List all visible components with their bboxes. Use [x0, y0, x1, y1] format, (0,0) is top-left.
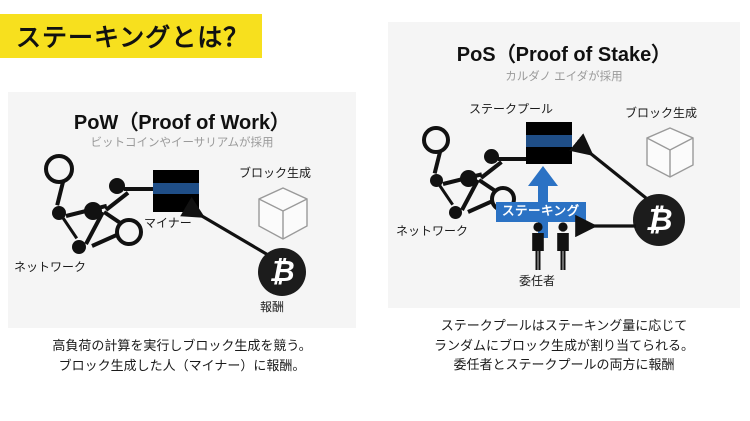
pos-caption-line-3: 委任者とステークプールの両方に報酬	[388, 355, 740, 375]
slide-title-banner: ステーキングとは？	[0, 14, 262, 58]
graph-edge	[105, 191, 130, 211]
pos-caption: ステークプールはステーキング量に応じて ランダムにブロック生成が割り当てられる。…	[388, 316, 740, 375]
pow-caption-line-1: 高負荷の計算を実行しブロック生成を競う。	[8, 336, 356, 356]
block-cube-icon	[644, 126, 696, 180]
pos-panel: PoS（Proof of Stake） カルダノ エイダが採用 ネットワーク ス…	[388, 22, 740, 308]
bitcoin-symbol: ₿	[269, 256, 294, 289]
miner-icon-stripe	[153, 183, 199, 194]
pos-subtitle: カルダノ エイダが採用	[388, 68, 740, 84]
pos-caption-line-1: ステークプールはステーキング量に応じて	[388, 316, 740, 336]
pow-reward-label: 報酬	[260, 298, 284, 315]
pow-caption: 高負荷の計算を実行しブロック生成を競う。 ブロック生成した人（マイナー）に報酬。	[8, 336, 356, 375]
delegator-person-icon	[553, 222, 573, 270]
pow-subtitle: ビットコインやイーサリアムが採用	[8, 134, 356, 150]
graph-edge	[433, 152, 442, 174]
bitcoin-coin-icon: ₿	[258, 248, 306, 296]
pos-block-generation-label: ブロック生成	[625, 104, 697, 121]
graph-node-dot	[109, 178, 125, 194]
pow-block-generation-label: ブロック生成	[239, 164, 311, 181]
graph-node-ring	[422, 126, 450, 154]
graph-node-ring	[115, 218, 143, 246]
pos-reward-to-pool-arrow	[574, 140, 650, 202]
graph-node-dot	[484, 149, 499, 164]
slide-title: ステーキングとは？	[0, 18, 249, 54]
pos-title: PoS（Proof of Stake）	[388, 38, 740, 67]
graph-node-dot	[430, 174, 443, 187]
stake-pool-icon-stripe	[526, 135, 572, 147]
pow-panel: PoW（Proof of Work） ビットコインやイーサリアムが採用 ネットワ…	[8, 92, 356, 328]
graph-node-dot	[72, 240, 86, 254]
graph-node-dot	[84, 202, 102, 220]
staking-badge: ステーキング	[496, 202, 586, 222]
graph-node-dot	[460, 170, 477, 187]
pow-title: PoW（Proof of Work）	[8, 106, 356, 135]
pos-stake-pool-label: ステークプール	[469, 100, 553, 117]
pos-caption-line-2: ランダムにブロック生成が割り当てられる。	[388, 336, 740, 356]
graph-node-ring	[44, 154, 74, 184]
pow-network-label: ネットワーク	[14, 258, 86, 275]
slide-canvas: ステーキングとは？ PoW（Proof of Work） ビットコインやイーサリ…	[0, 0, 750, 421]
graph-node-dot	[52, 206, 66, 220]
pos-network-label: ネットワーク	[396, 222, 468, 239]
pos-reward-to-delegator-arrow	[574, 218, 640, 234]
graph-node-dot	[449, 206, 462, 219]
stake-pool-icon	[526, 122, 572, 164]
pos-delegator-label: 委任者	[519, 272, 555, 289]
bitcoin-symbol: ₿	[645, 202, 672, 238]
graph-edge	[55, 182, 65, 206]
pow-caption-line-2: ブロック生成した人（マイナー）に報酬。	[8, 356, 356, 376]
delegator-person-icon	[528, 222, 548, 270]
